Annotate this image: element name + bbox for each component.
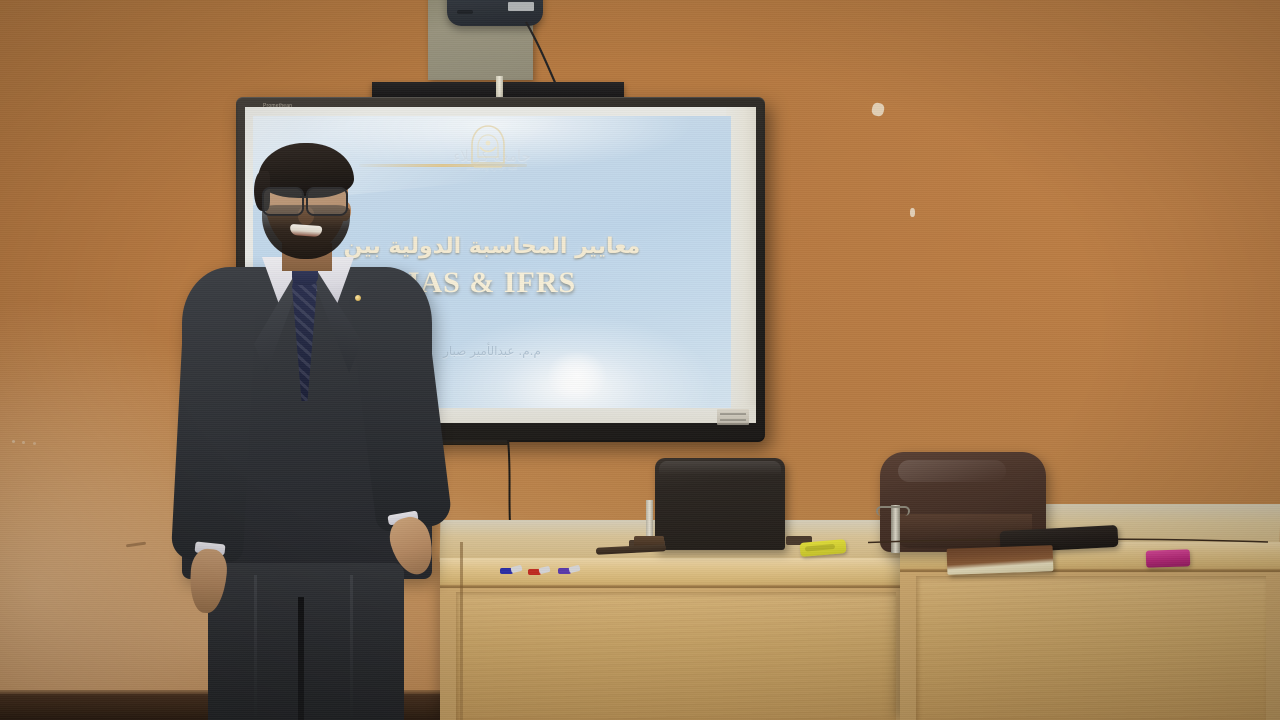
desk-front-panel-right (916, 576, 1266, 720)
paint-mark (12, 440, 15, 443)
classroom-scene: Promethean جامعة كربلاء كلية الإدارة وال… (0, 0, 1280, 720)
trousers (208, 563, 404, 720)
chair-armrest (876, 506, 910, 516)
marker-cap (510, 565, 522, 573)
university-emblem-icon (467, 123, 509, 171)
lapel-pin-icon (355, 295, 361, 301)
marker-purple[interactable] (558, 566, 580, 575)
desk-front-panel-left (456, 592, 896, 720)
projector-label (508, 2, 534, 11)
left-arm (171, 279, 258, 562)
paint-mark (33, 442, 36, 445)
board-serial-sticker (717, 409, 749, 425)
marker-blue[interactable] (500, 566, 522, 575)
pink-case[interactable] (1146, 549, 1191, 568)
trouser-pleat (350, 575, 353, 720)
presenter-figure[interactable] (150, 145, 470, 720)
projector-vent-icon (457, 10, 473, 14)
chair-highlight (898, 460, 1006, 482)
paint-mark (910, 208, 915, 217)
eyeglasses-icon (256, 187, 356, 213)
marker-cap (568, 565, 580, 573)
lecture-desk-left[interactable] (440, 558, 910, 720)
book[interactable] (947, 545, 1054, 575)
marker-red[interactable] (528, 567, 550, 576)
equipment-case[interactable] (655, 458, 785, 550)
marker-cap (538, 566, 550, 574)
trouser-gap (298, 597, 304, 720)
lens-left (262, 187, 304, 216)
glasses-bridge (300, 196, 308, 198)
mouth (290, 224, 323, 237)
trouser-pleat (254, 575, 257, 720)
lens-right (306, 187, 348, 216)
paint-mark (22, 441, 25, 444)
